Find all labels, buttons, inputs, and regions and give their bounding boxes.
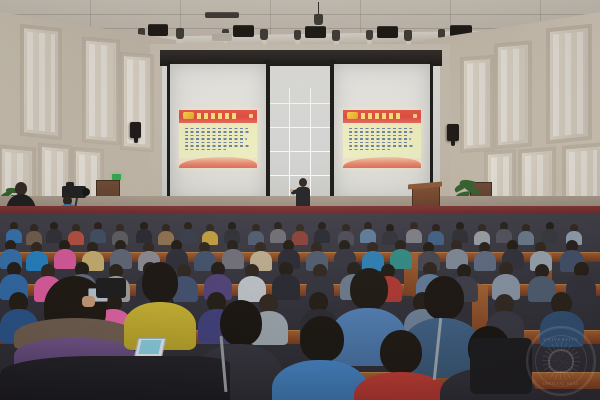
- stage-light-can: [404, 30, 412, 41]
- audience-person: [90, 222, 106, 240]
- ceiling-light-icon: [314, 14, 323, 25]
- right-projection-screen: [334, 64, 430, 202]
- audience-person: [446, 240, 468, 264]
- audience-person-blue-vest: [26, 242, 48, 266]
- audience-person: [474, 224, 490, 242]
- audience-person: [390, 240, 412, 264]
- lecture-hall-screenshot: UNIVERSITY OFFICIAL SEAL: [0, 0, 600, 400]
- audience-person: [502, 240, 524, 264]
- slide-text-lines: [185, 128, 251, 153]
- audience-person: [360, 222, 376, 240]
- stage-light-can: [366, 30, 373, 40]
- slide-logo-icon: [183, 112, 194, 119]
- audience-person: [6, 222, 22, 240]
- ceiling-junction-box: [212, 33, 232, 41]
- left-projection-screen: [170, 64, 266, 202]
- audience-person: [542, 222, 558, 240]
- audience-person: [222, 240, 244, 264]
- audience-person: [250, 242, 272, 266]
- slide-title-text: [197, 113, 238, 119]
- stage-light-can: [294, 30, 301, 40]
- foreground-silhouette: [0, 356, 230, 400]
- slide-header-bar: [179, 110, 257, 123]
- audience-person: [406, 222, 422, 240]
- wall-panel: [548, 26, 590, 142]
- ceiling-rail: [205, 12, 239, 18]
- wall-panel: [22, 26, 60, 138]
- stage-light-fixture: [377, 26, 398, 38]
- circular-seal-watermark: UNIVERSITY OFFICIAL SEAL: [526, 326, 596, 396]
- slide-footer-wave: [179, 157, 257, 168]
- stage-light-can: [332, 30, 340, 41]
- person-yellow-coat-foreground: [124, 262, 196, 348]
- audience-person: [166, 240, 188, 264]
- stage-light-can: [176, 28, 184, 39]
- wall-panel: [496, 43, 530, 148]
- audience-person: [278, 240, 300, 264]
- audience-person: [530, 242, 552, 266]
- slide-body: [179, 123, 257, 158]
- stage-light-fixture: [305, 26, 326, 38]
- audience-person: [180, 222, 196, 240]
- audience-person: [54, 240, 76, 264]
- audience-person: [566, 262, 596, 296]
- audience-person: [238, 264, 266, 296]
- audience-person: [314, 222, 330, 240]
- right-screen-slide: [343, 110, 421, 168]
- stage-light-can: [260, 29, 268, 40]
- audience-person: [334, 240, 356, 264]
- slide-corner-tag: [413, 114, 417, 119]
- audience-person: [26, 224, 42, 242]
- wall-speaker-right: [447, 124, 459, 141]
- stage-light-fixture: [233, 25, 254, 37]
- audience-person: [0, 240, 22, 264]
- audience-person: [270, 222, 286, 240]
- wall-panel: [84, 39, 118, 144]
- seal-text-bottom: OFFICIAL SEAL: [528, 381, 594, 386]
- slide-title-text: [361, 113, 402, 119]
- audience-person: [306, 242, 328, 266]
- audience-person: [492, 262, 520, 294]
- audience-person: [452, 222, 468, 240]
- slide-corner-tag: [249, 114, 253, 119]
- audience-person: [110, 240, 132, 264]
- slide-text-lines: [349, 128, 415, 153]
- audience-person: [496, 222, 512, 240]
- slide-header-bar: [343, 110, 421, 123]
- audience-person: [204, 262, 232, 294]
- audience-person: [46, 222, 62, 240]
- wall-speaker-left: [130, 122, 141, 138]
- hand: [82, 296, 95, 307]
- notebook-cover: [139, 340, 162, 354]
- dark-object-bottom-right: [470, 338, 532, 394]
- seal-text-top: UNIVERSITY: [528, 337, 594, 342]
- audience-person: [136, 222, 152, 240]
- audience-person: [224, 222, 240, 240]
- audience-person: [428, 224, 444, 242]
- slide-logo-icon: [347, 112, 358, 119]
- audience-person: [272, 262, 300, 294]
- left-screen-slide: [179, 110, 257, 168]
- audience-person: [248, 224, 264, 242]
- seal-emblem: [548, 349, 574, 373]
- slide-footer-wave: [343, 157, 421, 168]
- stage-light-fixture: [148, 24, 168, 36]
- audience-person: [202, 224, 218, 242]
- camera-bag: [96, 278, 126, 298]
- wall-panel: [462, 57, 492, 151]
- slide-body: [343, 123, 421, 158]
